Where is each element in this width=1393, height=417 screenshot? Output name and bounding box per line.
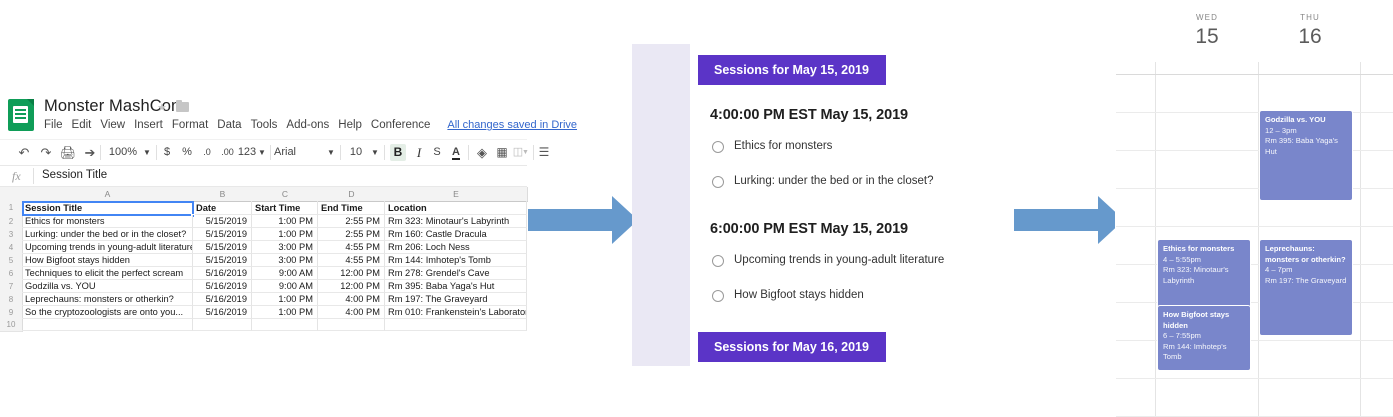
print-icon[interactable]: 🖨 [58, 140, 78, 165]
table-cell[interactable]: 3:00 PM [252, 254, 318, 267]
calendar-event-title: Ethics for monsters [1163, 244, 1245, 255]
table-cell[interactable]: 3:00 PM [252, 241, 318, 254]
column-header-b[interactable]: B [193, 187, 253, 202]
radio-button-icon[interactable] [712, 141, 724, 153]
fill-color-icon[interactable]: ◈ [472, 140, 492, 165]
sheets-titlebar: Monster MashCon ★ FileEditViewInsertForm… [0, 95, 527, 139]
menu-item-view[interactable]: View [100, 119, 125, 131]
calendar-event-time: 4 – 7pm [1265, 265, 1347, 276]
table-cell[interactable]: 1:00 PM [252, 306, 318, 319]
google-sheets-window: Monster MashCon ★ FileEditViewInsertForm… [0, 95, 527, 315]
chevron-down-icon[interactable]: ▼ [326, 140, 336, 165]
redo-icon[interactable]: ↷ [36, 140, 56, 165]
calendar-day-name-thu: THU [1275, 13, 1345, 22]
calendar-event-leprechauns[interactable]: Leprechauns: monsters or otherkin? 4 – 7… [1259, 239, 1353, 336]
menu-item-addons[interactable]: Add-ons [286, 119, 329, 131]
table-cell[interactable]: 5/16/2019 [193, 280, 252, 293]
calendar-gridline [1116, 378, 1393, 379]
table-cell[interactable]: Rm 278: Grendel's Cave [385, 267, 527, 280]
table-cell[interactable]: Rm 010: Frankenstein's Laboratory [385, 306, 527, 319]
bold-button[interactable]: B [390, 144, 406, 161]
table-cell[interactable] [318, 319, 385, 331]
calendar-gridline [1360, 62, 1361, 417]
table-cell[interactable]: Rm 206: Loch Ness [385, 241, 527, 254]
calendar-event-bigfoot[interactable]: How Bigfoot stays hidden 6 – 7:55pm Rm 1… [1157, 305, 1251, 371]
form-option-label[interactable]: Upcoming trends in young-adult literatur… [734, 254, 944, 266]
row-header-6[interactable]: 6 [0, 267, 23, 281]
percent-format-button[interactable]: % [180, 140, 194, 165]
save-status-link[interactable]: All changes saved in Drive [447, 119, 577, 131]
form-section-banner-may15: Sessions for May 15, 2019 [698, 55, 886, 85]
row-header-8[interactable]: 8 [0, 293, 23, 307]
table-cell[interactable]: How Bigfoot stays hidden [22, 254, 193, 267]
calendar-event-title: Godzilla vs. YOU [1265, 115, 1347, 126]
row-header-7[interactable]: 7 [0, 280, 23, 294]
formula-bar: fx Session Title [0, 166, 527, 187]
column-header-a[interactable]: A [22, 187, 194, 202]
table-cell[interactable]: Rm 144: Imhotep's Tomb [385, 254, 527, 267]
table-cell[interactable] [193, 319, 252, 331]
google-form-preview: Sessions for May 15, 2019 4:00:00 PM EST… [632, 44, 922, 366]
table-cell[interactable]: 5/15/2019 [193, 228, 252, 241]
calendar-day-name-wed: WED [1172, 13, 1242, 22]
select-all-corner[interactable] [0, 187, 23, 202]
more-formats-button[interactable]: 123 [236, 140, 258, 165]
table-cell[interactable]: 2:55 PM [318, 215, 385, 228]
table-header-cell[interactable]: Date [193, 201, 252, 215]
calendar-event-location: Rm 323: Minotaur's Labyrinth [1163, 265, 1245, 286]
italic-button[interactable]: I [412, 140, 426, 165]
table-cell[interactable]: Lurking: under the bed or in the closet? [22, 228, 193, 241]
font-family-select[interactable]: Arial [274, 140, 324, 165]
table-cell[interactable]: 1:00 PM [252, 293, 318, 306]
table-cell[interactable]: 4:00 PM [318, 306, 385, 319]
decrease-decimal-button[interactable]: .0 [199, 140, 215, 165]
table-cell[interactable]: 2:55 PM [318, 228, 385, 241]
chevron-down-icon[interactable]: ▼ [521, 140, 530, 165]
table-cell[interactable]: 12:00 PM [318, 280, 385, 293]
paint-format-icon[interactable]: ➔ [80, 140, 100, 165]
formula-input[interactable]: Session Title [42, 169, 107, 181]
menu-bar: FileEditViewInsertFormatDataToolsAdd-ons… [44, 119, 586, 131]
row-header-10[interactable]: 10 [0, 319, 23, 332]
increase-decimal-button[interactable]: .00 [219, 140, 236, 165]
table-cell[interactable]: 5/15/2019 [193, 241, 252, 254]
font-size-select[interactable]: 10 [344, 140, 368, 165]
table-cell[interactable]: 5/16/2019 [193, 293, 252, 306]
table-header-cell[interactable]: Start Time [252, 201, 318, 215]
menu-item-tools[interactable]: Tools [251, 119, 278, 131]
form-question-time-2: 6:00:00 PM EST May 15, 2019 [710, 221, 908, 237]
table-header-cell[interactable]: Session Title [22, 201, 193, 215]
row-header-4[interactable]: 4 [0, 241, 23, 255]
table-cell[interactable]: 1:00 PM [252, 228, 318, 241]
calendar-event-time: 4 – 5:55pm [1163, 255, 1245, 266]
table-cell[interactable]: Leprechauns: monsters or otherkin? [22, 293, 193, 306]
calendar-event-time: 12 – 3pm [1265, 126, 1347, 137]
calendar-event-location: Rm 144: Imhotep's Tomb [1163, 342, 1245, 363]
menu-item-format[interactable]: Format [172, 119, 208, 131]
row-header-9[interactable]: 9 [0, 306, 23, 320]
table-cell[interactable] [22, 319, 193, 331]
align-left-icon[interactable]: ☰ [534, 140, 554, 165]
table-cell[interactable]: 4:55 PM [318, 241, 385, 254]
zoom-level-select[interactable]: 100% [104, 140, 142, 165]
table-cell[interactable]: So the cryptozoologists are onto you... [22, 306, 193, 319]
table-cell[interactable]: 5/16/2019 [193, 267, 252, 280]
form-option-label[interactable]: Lurking: under the bed or in the closet? [734, 175, 933, 187]
menu-item-help[interactable]: Help [338, 119, 362, 131]
chevron-down-icon[interactable]: ▼ [257, 140, 267, 165]
form-question-time-1: 4:00:00 PM EST May 15, 2019 [710, 107, 908, 123]
menu-item-file[interactable]: File [44, 119, 63, 131]
spreadsheet-grid: A B C D E 1 2 3 4 5 6 7 8 9 10 Session T… [0, 187, 527, 318]
form-section-banner-may16: Sessions for May 16, 2019 [698, 332, 886, 362]
table-cell[interactable]: 1:00 PM [252, 215, 318, 228]
menu-item-insert[interactable]: Insert [134, 119, 163, 131]
calendar-event-location: Rm 197: The Graveyard [1265, 276, 1347, 287]
sheets-toolbar: ↶ ↷ 🖨 ➔ 100% ▼ $ % .0 .00 123 ▼ Arial ▼ … [0, 139, 527, 166]
google-calendar-week-view: WED 15 THU 16 Godzilla vs. YOU 12 – 3pm … [1115, 0, 1393, 417]
table-cell[interactable]: Rm 323: Minotaur's Labyrinth [385, 215, 527, 228]
row-header-2[interactable]: 2 [0, 215, 23, 229]
calendar-event-location: Rm 395: Baba Yaga's Hut [1265, 136, 1347, 157]
table-cell[interactable]: 5/15/2019 [193, 215, 252, 228]
menu-item-data[interactable]: Data [217, 119, 241, 131]
calendar-event-title: How Bigfoot stays hidden [1163, 310, 1245, 331]
chevron-down-icon[interactable]: ▼ [142, 140, 152, 165]
calendar-gridline [1155, 62, 1156, 417]
table-cell[interactable]: Rm 395: Baba Yaga's Hut [385, 280, 527, 293]
table-cell[interactable]: Techniques to elicit the perfect scream [22, 267, 193, 280]
row-header-5[interactable]: 5 [0, 254, 23, 268]
table-cell[interactable] [252, 319, 318, 331]
chevron-down-icon[interactable]: ▼ [370, 140, 380, 165]
star-icon[interactable]: ★ [157, 101, 167, 114]
table-cell[interactable]: 5/15/2019 [193, 254, 252, 267]
text-color-button[interactable]: A [449, 140, 463, 165]
column-header-d[interactable]: D [318, 187, 386, 202]
calendar-day-number-16[interactable]: 16 [1275, 25, 1345, 49]
flow-arrow-sheets-to-form [528, 196, 638, 244]
radio-button-icon[interactable] [712, 290, 724, 302]
flow-arrow-form-to-calendar [1014, 196, 1129, 244]
row-header-3[interactable]: 3 [0, 228, 23, 242]
column-header-c[interactable]: C [252, 187, 319, 202]
table-cell[interactable] [385, 319, 527, 331]
calendar-event-time: 6 – 7:55pm [1163, 331, 1245, 342]
column-header-e[interactable]: E [385, 187, 528, 202]
currency-format-button[interactable]: $ [160, 140, 174, 165]
radio-button-icon[interactable] [712, 255, 724, 267]
table-cell[interactable]: Rm 197: The Graveyard [385, 293, 527, 306]
form-body [690, 44, 922, 366]
table-cell[interactable]: Godzilla vs. YOU [22, 280, 193, 293]
form-option-label[interactable]: Ethics for monsters [734, 140, 832, 152]
row-header-1[interactable]: 1 [0, 201, 23, 216]
table-cell[interactable]: Rm 160: Castle Dracula [385, 228, 527, 241]
table-cell[interactable]: 12:00 PM [318, 267, 385, 280]
folder-icon[interactable] [176, 102, 189, 112]
radio-button-icon[interactable] [712, 176, 724, 188]
fx-icon: fx [12, 169, 21, 184]
table-cell[interactable]: Upcoming trends in young-adult literatur… [22, 241, 193, 254]
table-header-cell[interactable]: End Time [318, 201, 385, 215]
table-header-cell[interactable]: Location [385, 201, 527, 215]
table-cell[interactable]: Ethics for monsters [22, 215, 193, 228]
strikethrough-button[interactable]: S [430, 140, 444, 165]
calendar-gridline [1116, 74, 1393, 75]
calendar-day-number-15[interactable]: 15 [1172, 25, 1242, 49]
form-side-strip [632, 44, 690, 366]
table-cell[interactable]: 4:55 PM [318, 254, 385, 267]
table-cell[interactable]: 4:00 PM [318, 293, 385, 306]
table-cell[interactable]: 9:00 AM [252, 280, 318, 293]
calendar-gridline [1116, 226, 1393, 227]
table-cell[interactable]: 5/16/2019 [193, 306, 252, 319]
undo-icon[interactable]: ↶ [14, 140, 34, 165]
calendar-event-ethics[interactable]: Ethics for monsters 4 – 5:55pm Rm 323: M… [1157, 239, 1251, 309]
menu-item-conference[interactable]: Conference [371, 119, 430, 131]
google-sheets-icon [8, 99, 34, 131]
menu-item-edit[interactable]: Edit [72, 119, 92, 131]
table-cell[interactable]: 9:00 AM [252, 267, 318, 280]
calendar-event-title: Leprechauns: monsters or otherkin? [1265, 244, 1347, 265]
form-option-label[interactable]: How Bigfoot stays hidden [734, 289, 864, 301]
calendar-event-godzilla[interactable]: Godzilla vs. YOU 12 – 3pm Rm 395: Baba Y… [1259, 110, 1353, 201]
